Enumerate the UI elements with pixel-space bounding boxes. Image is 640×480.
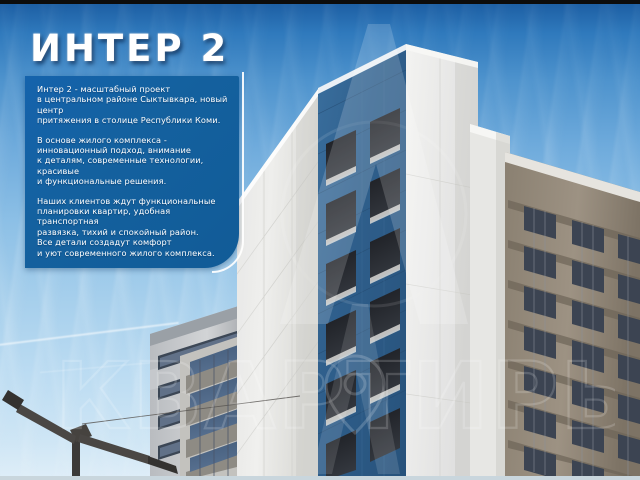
poster-canvas: КВАРТИРЫ ИНТЕР 2 Интер 2 - масштабный пр… [0, 0, 640, 480]
panel-paragraph-1: Интер 2 - масштабный проектв центральном… [37, 84, 229, 126]
right-brick-building [505, 152, 640, 480]
letterbox-bottom-bar [0, 476, 640, 480]
panel-paragraph-2: В основе жилого комплекса - инновационны… [37, 135, 229, 187]
letterbox-top-bar [0, 0, 640, 4]
description-panel: Интер 2 - масштабный проектв центральном… [25, 76, 239, 268]
right-white-slab [470, 124, 510, 480]
panel-paragraph-3: Наших клиентов ждут функциональныепланир… [37, 196, 229, 258]
poster-title: ИНТЕР 2 [30, 27, 229, 70]
tower-right-return-wall [406, 44, 478, 480]
main-tower-blue-face [312, 44, 406, 480]
description-panel-wrapper: Интер 2 - масштабный проектв центральном… [25, 76, 239, 268]
